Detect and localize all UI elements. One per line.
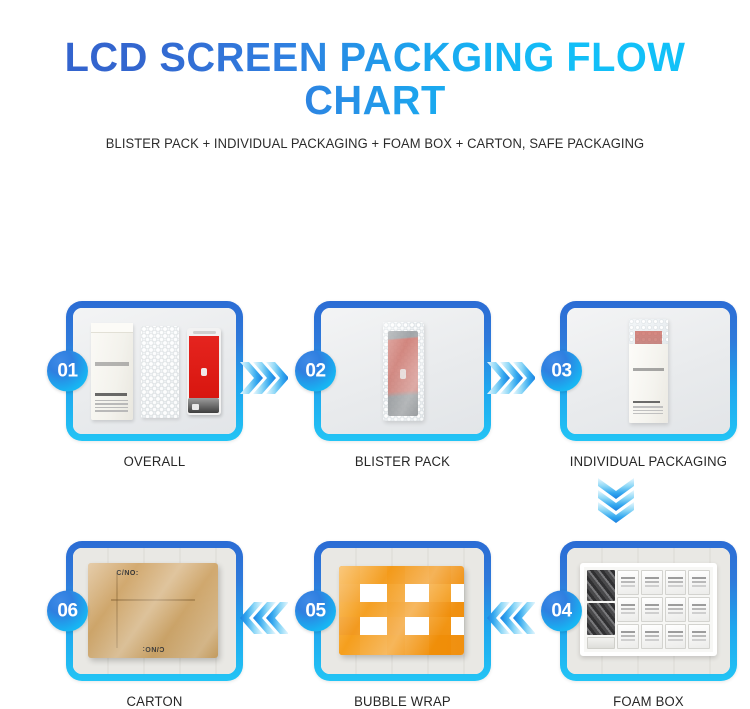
protruding-bubble-wrap xyxy=(629,319,668,346)
step-badge-04: 04 xyxy=(541,591,582,632)
step-caption-01: OVERALL xyxy=(55,454,254,469)
box-title-bar xyxy=(95,362,130,366)
retail-box xyxy=(91,323,133,420)
step-photo-03 xyxy=(567,308,730,434)
packed-box xyxy=(641,570,663,595)
step-badge-01: 01 xyxy=(47,351,88,392)
box-text-lines xyxy=(95,400,128,414)
packed-box xyxy=(688,624,710,649)
packed-box xyxy=(617,570,639,595)
step-caption-05: BUBBLE WRAP xyxy=(303,694,502,709)
step-card-frame-05 xyxy=(314,541,491,681)
lcd-chip xyxy=(192,404,199,410)
flow-step-01[interactable]: 01 OVERALL xyxy=(52,301,257,469)
arrow-04-to-05 xyxy=(487,598,535,638)
step-card-frame-06: C/NO: C/NO: xyxy=(66,541,243,681)
scene-blister xyxy=(321,308,484,434)
step-badge-03: 03 xyxy=(541,351,582,392)
step-card-frame-04 xyxy=(560,541,737,681)
plastic-gloss xyxy=(383,322,424,422)
arrow-01-to-02 xyxy=(240,358,288,398)
packed-box xyxy=(617,597,639,622)
packed-box xyxy=(665,597,687,622)
packed-box xyxy=(641,624,663,649)
packed-box xyxy=(665,570,687,595)
tape-gloss xyxy=(339,566,465,655)
step-caption-02: BLISTER PACK xyxy=(303,454,502,469)
arrow-05-to-06 xyxy=(240,598,288,638)
lcd-screen-module xyxy=(187,328,221,415)
bubble-wrapped-screen xyxy=(383,322,424,422)
accessory-bag xyxy=(587,570,615,601)
step-badge-06: 06 xyxy=(47,591,88,632)
packed-box xyxy=(665,624,687,649)
step-caption-06: CARTON xyxy=(55,694,254,709)
step-card-frame-01 xyxy=(66,301,243,441)
arrow-02-to-03 xyxy=(487,358,535,398)
shrink-wrap-gloss xyxy=(88,563,218,658)
scene-foam xyxy=(567,548,730,674)
box-lid xyxy=(91,323,133,333)
lcd-red-film xyxy=(189,336,219,398)
packed-box xyxy=(641,597,663,622)
step-photo-02 xyxy=(321,308,484,434)
lcd-earpiece xyxy=(193,331,216,334)
foam-box xyxy=(580,563,717,656)
accessory-bags-column xyxy=(587,570,615,649)
packed-box xyxy=(617,624,639,649)
packed-boxes-grid xyxy=(615,570,710,649)
box-subtitle-bar xyxy=(633,401,660,404)
page-title: LCD SCREEN PACKGING FLOW CHART xyxy=(11,36,739,122)
step-card-frame-03 xyxy=(560,301,737,441)
step-caption-03: INDIVIDUAL PACKAGING xyxy=(549,454,748,469)
lcd-home-button xyxy=(201,368,206,376)
packed-box xyxy=(688,597,710,622)
flow-chart: 01 OVERALL 02 BLISTER PACK xyxy=(0,151,750,601)
flow-step-02[interactable]: 02 BLISTER PACK xyxy=(300,301,505,469)
page-header: LCD SCREEN PACKGING FLOW CHART BLISTER P… xyxy=(0,0,750,151)
step-caption-04: FOAM BOX xyxy=(549,694,748,709)
flow-step-05[interactable]: 05 BUBBLE WRAP xyxy=(300,541,505,709)
step-badge-02: 02 xyxy=(295,351,336,392)
scene-carton: C/NO: C/NO: xyxy=(73,548,236,674)
flow-step-04[interactable]: 04 FOAM BOX xyxy=(546,541,750,709)
scene-individual xyxy=(567,308,730,434)
step-badge-05: 05 xyxy=(295,591,336,632)
shipping-carton: C/NO: C/NO: xyxy=(88,563,218,658)
step-card-frame-02 xyxy=(314,301,491,441)
arrow-03-to-04 xyxy=(595,478,637,526)
foam-strip xyxy=(587,637,615,650)
scene-overall xyxy=(73,308,236,434)
scene-bubble xyxy=(321,548,484,674)
individual-retail-box xyxy=(629,319,668,422)
flow-step-06[interactable]: C/NO: C/NO: 06 CARTON xyxy=(52,541,257,709)
box-subtitle-bar xyxy=(95,393,127,396)
step-photo-06: C/NO: C/NO: xyxy=(73,548,236,674)
step-photo-05 xyxy=(321,548,484,674)
accessory-bag xyxy=(587,603,615,634)
step-photo-04 xyxy=(567,548,730,674)
bubble-wrap-sheet xyxy=(141,326,178,418)
box-body xyxy=(629,344,668,423)
box-title-bar xyxy=(633,368,664,371)
step-photo-01 xyxy=(73,308,236,434)
orange-taped-box xyxy=(339,566,465,655)
box-text-lines xyxy=(633,406,663,416)
packed-box xyxy=(688,570,710,595)
flow-step-03[interactable]: 03 INDIVIDUAL PACKAGING xyxy=(546,301,750,469)
page-subtitle: BLISTER PACK + INDIVIDUAL PACKAGING + FO… xyxy=(15,122,735,151)
